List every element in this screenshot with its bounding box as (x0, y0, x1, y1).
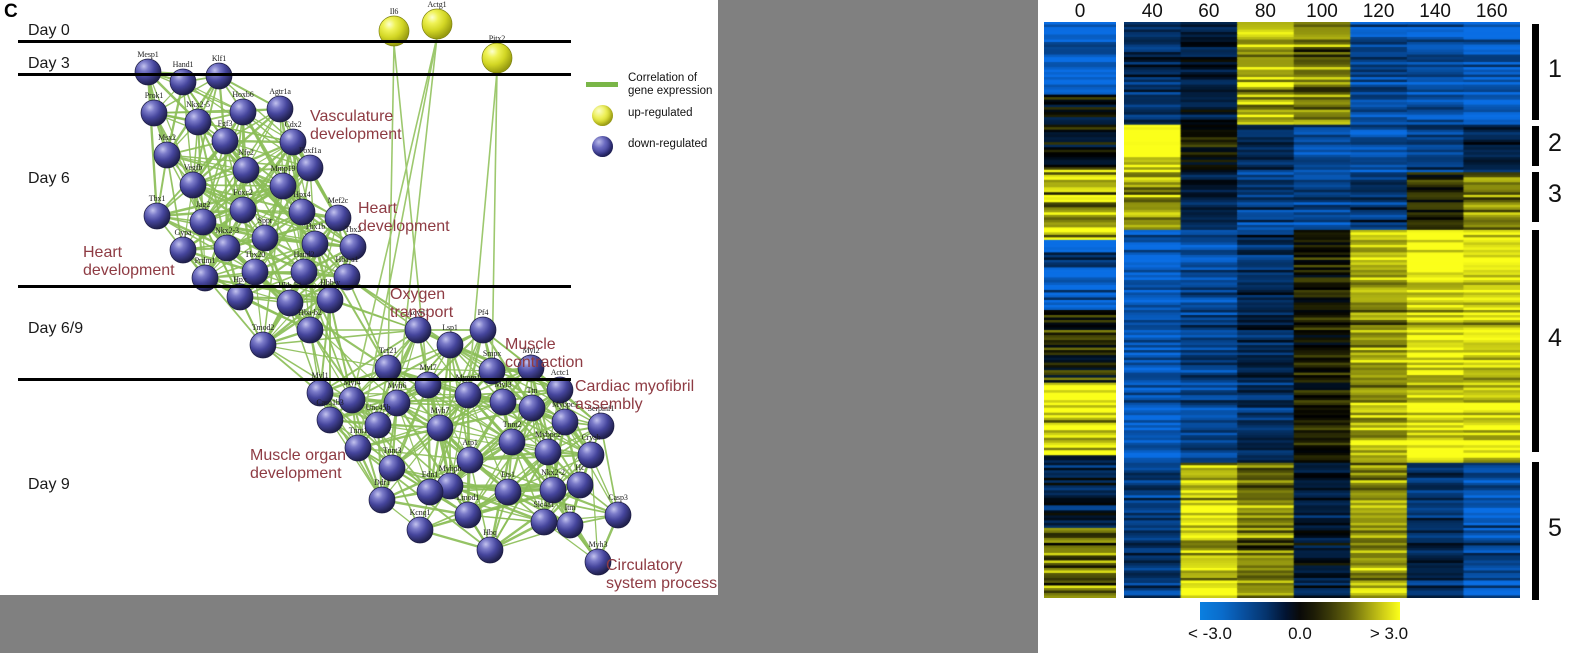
gene-node-label: Foxc2 (233, 188, 253, 197)
legend-row-downregulated: down-regulated (586, 136, 716, 158)
gene-node[interactable] (230, 197, 256, 223)
gene-node-label: Tbx1b (305, 222, 325, 231)
gene-node-label: Msx2 (158, 133, 176, 142)
gene-node-label: Cdx2 (285, 120, 302, 129)
gene-node-label: Hba-a1 (336, 255, 359, 264)
heatmap-column-label: 60 (1198, 1, 1219, 23)
gene-node-label: Edn1 (422, 470, 439, 479)
gene-node[interactable] (365, 412, 391, 438)
gene-node-label: Klf1 (212, 54, 226, 63)
gene-node-label: Sppr (258, 216, 273, 225)
gene-node[interactable] (297, 155, 323, 181)
gene-node-label: Hbq (483, 528, 496, 537)
day-divider-line (18, 285, 571, 288)
cluster-number-label: 1 (1548, 55, 1562, 84)
gene-node-label: Ddr1 (374, 478, 390, 487)
gene-node[interactable] (233, 157, 259, 183)
heatmap-column-label: 100 (1306, 1, 1338, 23)
gene-node[interactable] (535, 439, 561, 465)
gene-node-label: Unc45b (366, 403, 391, 412)
gene-node-label: Tnnt2 (503, 420, 522, 429)
legend-row-upregulated: up-regulated (586, 105, 716, 127)
gene-node[interactable] (230, 99, 256, 125)
gene-node-label: Slc4a1 (533, 500, 554, 509)
gene-node-label: Mef2c (328, 196, 348, 205)
cluster-number-label: 2 (1548, 129, 1562, 158)
gene-node-label: Hoxb6 (232, 90, 253, 99)
heatmap-column-label: 0 (1075, 1, 1086, 23)
network-nodes (135, 9, 631, 575)
down-regulated-node-icon (592, 136, 613, 157)
gene-node-label: Myh6 (388, 381, 407, 390)
go-term-label: Heart development (358, 200, 450, 236)
gene-node-label: Nkx2-5 (186, 100, 210, 109)
gene-node-label: Nkx2-2 (541, 468, 565, 477)
gene-node-label: Casq1b3 (316, 398, 343, 407)
gene-node[interactable] (605, 502, 631, 528)
gene-node[interactable] (144, 203, 170, 229)
gene-node[interactable] (206, 63, 232, 89)
gene-node-label: Hand1 (173, 60, 194, 69)
gene-node-label: Lsp1 (442, 323, 458, 332)
gene-node[interactable] (567, 472, 593, 498)
up-regulated-node-icon (592, 105, 613, 126)
gene-node-label: Lmod1 (457, 493, 480, 502)
scale-label-low: < -3.0 (1188, 624, 1232, 644)
gene-node-label: Tbx1 (149, 194, 166, 203)
heatmap-column-label: 140 (1419, 1, 1451, 23)
gene-node[interactable] (154, 142, 180, 168)
gene-node-label: Il6 (390, 7, 399, 16)
gene-node-label: Gypa (175, 228, 192, 237)
gene-node[interactable] (499, 429, 525, 455)
color-scale-bar (1200, 602, 1400, 620)
gene-node-label: Actg1 (427, 0, 446, 9)
gene-node-label: Hpx (233, 275, 246, 284)
gene-node[interactable] (415, 372, 441, 398)
gene-node[interactable] (345, 435, 371, 461)
gene-node[interactable] (477, 537, 503, 563)
go-term-label: Muscle organ development (250, 447, 346, 483)
gene-node-label: Mybpc2 (535, 430, 561, 439)
network-panel: C Il6Actg1Pitx2Mesp1Hand1Klf1Prok1Nkx2-5… (0, 0, 718, 595)
heatmap-column-0 (1044, 22, 1116, 598)
gene-node[interactable] (135, 59, 161, 85)
gene-node-label: Prok1 (145, 91, 164, 100)
cluster-bracket-bar (1532, 24, 1539, 120)
gene-node[interactable] (422, 9, 452, 39)
day-axis-label: Day 0 (28, 22, 70, 40)
gene-node-label: Prdm1 (195, 256, 216, 265)
gene-node[interactable] (557, 512, 583, 538)
day-axis-label: Day 9 (28, 476, 70, 494)
gene-node-label: Nkx2-3 (215, 226, 239, 235)
heatmap-column-label: 40 (1142, 1, 1163, 23)
cluster-number-label: 4 (1548, 324, 1562, 353)
gene-node-label: Ttn (527, 386, 538, 395)
go-term-label: Muscle contraction (505, 336, 583, 372)
go-term-label: Vasculature development (310, 108, 402, 144)
gene-node[interactable] (250, 332, 276, 358)
gene-node-label: Cryab (581, 433, 600, 442)
gene-node-label: Tmod2 (252, 323, 275, 332)
gene-node[interactable] (214, 235, 240, 261)
gene-node[interactable] (495, 479, 521, 505)
gene-node-label: Hc (575, 463, 584, 472)
gene-node-label: Myh3 (589, 540, 608, 549)
gene-node-label: Hpx4 (293, 190, 310, 199)
day-divider-line (18, 73, 571, 76)
correlation-line-icon (586, 82, 618, 87)
cluster-bracket-bar (1532, 462, 1539, 600)
gene-node-label: Fgf3 (218, 119, 233, 128)
go-term-label: Oxygen transport (390, 286, 453, 322)
gene-node[interactable] (141, 100, 167, 126)
gene-node-label: Tcf21 (379, 346, 397, 355)
day-axis-label: Day 3 (28, 55, 70, 73)
gene-node-label: Tnnt1 (349, 426, 368, 435)
gene-node[interactable] (455, 382, 481, 408)
scale-label-mid: 0.0 (1288, 624, 1312, 644)
go-term-label: Heart development (83, 244, 175, 280)
gene-node[interactable] (417, 479, 443, 505)
cluster-bracket-bar (1532, 126, 1539, 166)
scale-label-high: > 3.0 (1370, 624, 1408, 644)
go-term-label: Circulatory system process (606, 557, 717, 593)
go-term-label: Cardiac myofibril assembly (575, 378, 694, 414)
gene-node-label: Kcnq1 (410, 508, 431, 517)
cluster-number-label: 3 (1548, 180, 1562, 209)
gene-node[interactable] (437, 332, 463, 358)
gene-node[interactable] (297, 317, 323, 343)
gene-node[interactable] (531, 509, 557, 535)
gene-node-label: Mmp19 (271, 164, 296, 173)
day-axis-label: Day 6/9 (28, 320, 83, 338)
gene-node-label: Itm (565, 503, 576, 512)
gene-node[interactable] (427, 415, 453, 441)
day-axis-label: Day 6 (28, 170, 70, 188)
gene-node-label: Smpx (483, 349, 501, 358)
gene-node[interactable] (317, 407, 343, 433)
gene-node-label: Atp1 (462, 438, 478, 447)
cluster-bracket-bar (1532, 230, 1539, 452)
legend-row-correlation: Correlation of gene expression (586, 74, 716, 96)
gene-node-label: Mybph (439, 464, 462, 473)
legend: Correlation of gene expression up-regula… (586, 74, 716, 167)
heatmap-column-label: 80 (1255, 1, 1276, 23)
gene-node[interactable] (270, 173, 296, 199)
gene-node[interactable] (490, 389, 516, 415)
gene-node[interactable] (212, 128, 238, 154)
gene-node-label: Myl7 (420, 363, 437, 372)
legend-label-correlation: Correlation of gene expression (628, 72, 712, 99)
day-divider-line (18, 378, 571, 381)
heatmap-main-block (1124, 22, 1520, 598)
gene-node[interactable] (267, 96, 293, 122)
cluster-number-label: 5 (1548, 514, 1562, 543)
gene-node[interactable] (519, 395, 545, 421)
gene-node-label: Tnnt3 (383, 446, 402, 455)
legend-label-upregulated: up-regulated (628, 107, 693, 120)
gene-node-label: Nfe2 (238, 148, 254, 157)
gene-node[interactable] (252, 225, 278, 251)
gene-node[interactable] (470, 317, 496, 343)
heatmap-column-label: 160 (1476, 1, 1508, 23)
gene-node[interactable] (482, 43, 512, 73)
gene-node[interactable] (190, 209, 216, 235)
gene-node-label: Myl3 (495, 380, 512, 389)
gene-node-label: Agtr1a (269, 87, 291, 96)
gene-node-label: Myh7 (431, 406, 450, 415)
gene-node-label: Ets1 (501, 470, 515, 479)
gene-node-label: Jag2 (196, 200, 210, 209)
gene-node-label: Foxf1a (299, 146, 321, 155)
gene-node[interactable] (369, 487, 395, 513)
gene-node-label: Mesp1 (137, 50, 158, 59)
heatmap-column-label: 120 (1363, 1, 1395, 23)
legend-label-downregulated: down-regulated (628, 138, 707, 151)
gene-node[interactable] (180, 172, 206, 198)
gene-node-label: Hba-b2 (298, 308, 321, 317)
gene-node-label: Hand2 (294, 250, 315, 259)
background-filler-bottom-left (0, 595, 1038, 653)
gene-node-label: Vegfb (184, 163, 203, 172)
gene-node[interactable] (407, 517, 433, 543)
gene-node-label: Pf4 (478, 308, 489, 317)
gene-node-label: Casp3 (608, 493, 628, 502)
cluster-bracket-bar (1532, 172, 1539, 222)
gene-node[interactable] (185, 109, 211, 135)
gene-node-label: Tbx20 (245, 250, 265, 259)
day-divider-line (18, 40, 571, 43)
gene-node[interactable] (455, 502, 481, 528)
